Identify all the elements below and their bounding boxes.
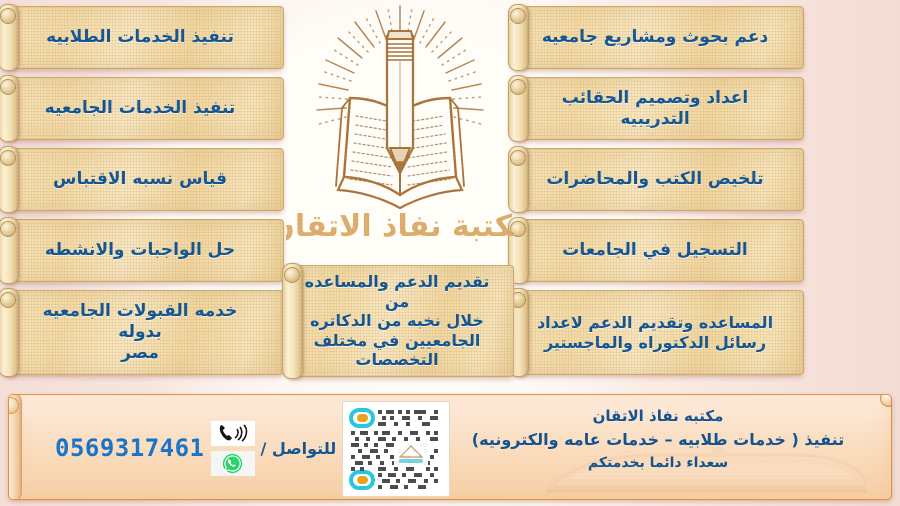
service-card-label: دعم بحوث ومشاريع جامعيه [542, 27, 768, 48]
contact-banner: للتواصل / [8, 394, 892, 500]
phone-number[interactable]: 0569317461 [55, 434, 205, 462]
service-card-label: تقديم الدعم والمساعده من خلال نخبه من ال… [303, 272, 491, 370]
service-card-left-1[interactable]: تنفيذ الخدمات الطلابيه [6, 6, 284, 69]
service-card-center[interactable]: تقديم الدعم والمساعده من خلال نخبه من ال… [290, 265, 514, 377]
service-card-label: تلخيص الكتب والمحاضرات [546, 169, 763, 190]
phone-ringing-icon[interactable] [211, 421, 255, 446]
service-card-label: قياس نسبه الاقتباس [53, 169, 227, 190]
banner-text-block: مكتبه نفاذ الاتقان تنفيذ ( خدمات طلابيه … [443, 405, 873, 475]
contact-icons [211, 421, 255, 476]
service-card-right-3[interactable]: تلخيص الكتب والمحاضرات [516, 148, 804, 211]
service-card-label: حل الواجبات والانشطه [45, 240, 235, 261]
banner-scroll-knob [880, 394, 892, 407]
banner-services: تنفيذ ( خدمات طلابيه – خدمات عامه والكتر… [443, 428, 873, 453]
qr-code[interactable] [342, 401, 450, 497]
service-card-right-4[interactable]: التسجيل في الجامعات [516, 219, 804, 282]
banner-slogan: سعداء دائما بخدمتكم [443, 452, 873, 474]
service-card-left-5[interactable]: خدمه القبولات الجامعيه بدوله مصر [6, 290, 284, 375]
contact-block: للتواصل / [55, 411, 355, 485]
service-card-label: تنفيذ الخدمات الطلابيه [46, 27, 234, 48]
service-card-left-2[interactable]: تنفيذ الخدمات الجامعيه [6, 77, 284, 140]
service-card-label: التسجيل في الجامعات [562, 240, 747, 261]
whatsapp-icon[interactable] [211, 451, 255, 476]
service-card-label: المساعده وتقديم الدعم لاعداد رسائل الدكت… [537, 313, 773, 352]
service-card-right-5[interactable]: المساعده وتقديم الدعم لاعداد رسائل الدكت… [516, 290, 804, 375]
service-card-right-2[interactable]: اعداد وتصميم الحقائب التدريبيه [516, 77, 804, 140]
service-card-right-1[interactable]: دعم بحوث ومشاريع جامعيه [516, 6, 804, 69]
service-card-label: خدمه القبولات الجامعيه بدوله مصر [23, 301, 257, 363]
banner-title: مكتبه نفاذ الاتقان [443, 405, 873, 428]
library-logo: مكتبة نفاذ الاتقان [286, 0, 514, 248]
service-card-left-3[interactable]: قياس نسبه الاقتباس [6, 148, 284, 211]
contact-label: للتواصل / [261, 439, 337, 458]
service-card-left-4[interactable]: حل الواجبات والانشطه [6, 219, 284, 282]
service-card-label: تنفيذ الخدمات الجامعيه [45, 98, 236, 119]
service-card-label: اعداد وتصميم الحقائب التدريبيه [562, 88, 748, 129]
poster-background: تنفيذ الخدمات الطلابيه تنفيذ الخدمات الج… [0, 0, 900, 506]
logo-caption: مكتبة نفاذ الاتقان [286, 209, 514, 244]
